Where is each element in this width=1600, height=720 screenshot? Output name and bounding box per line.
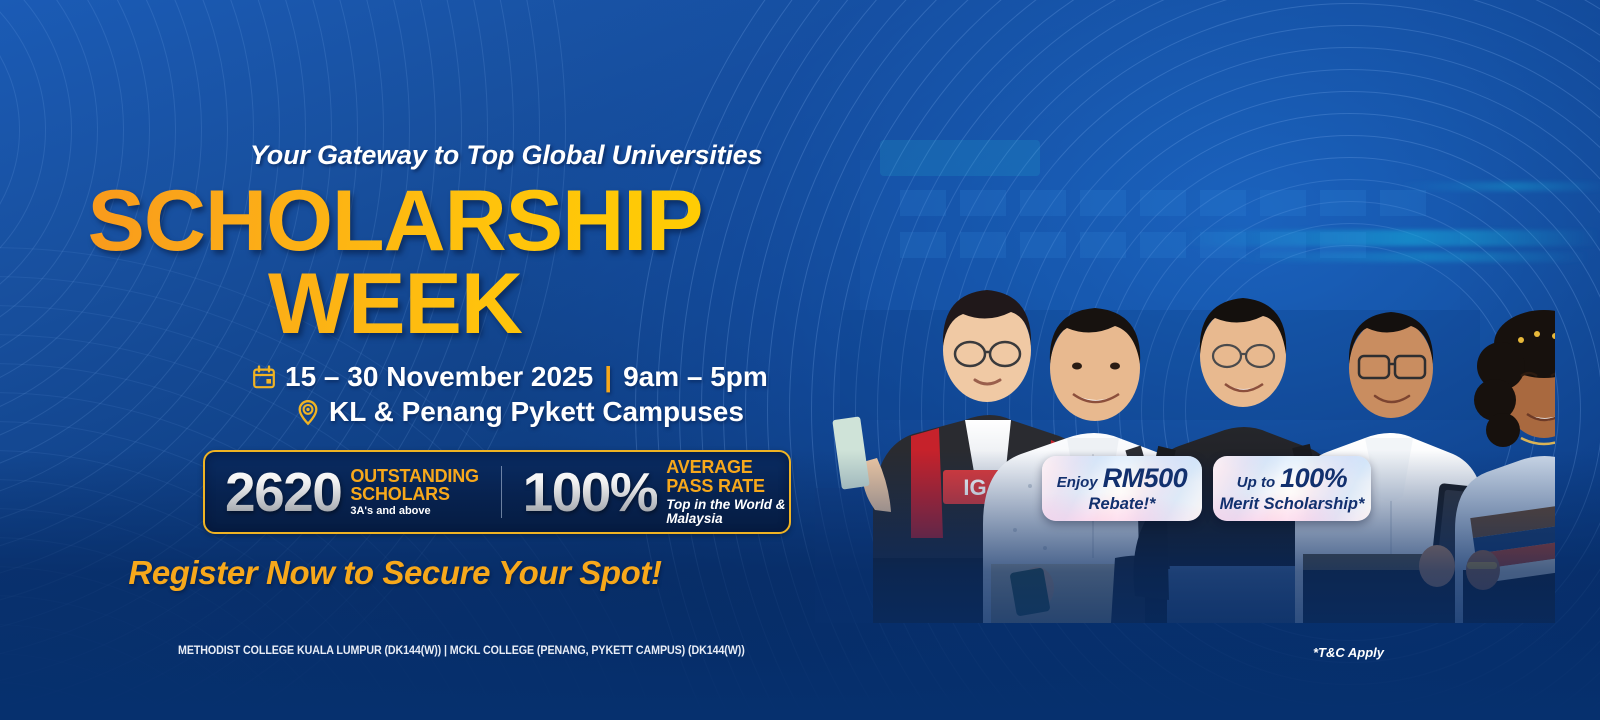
event-date: 15 – 30 November 2025	[285, 361, 593, 393]
stat-pass-rate: 100% AVERAGE PASS RATE Top in the World …	[502, 458, 789, 526]
tagline: Your Gateway to Top Global Universities	[250, 140, 762, 171]
calendar-icon	[252, 365, 276, 390]
headline-line-2: WEEK	[0, 265, 790, 344]
stat-pass-rate-label: AVERAGE PASS RATE	[666, 458, 789, 495]
stat-scholars-label-2: SCHOLARS	[350, 485, 478, 504]
footer-legal-text: METHODIST COLLEGE KUALA LUMPUR (DK144(W)…	[178, 645, 745, 657]
headline-line-1: SCHOLARSHIP	[0, 182, 790, 261]
student-5	[1455, 310, 1555, 623]
promo-badge-rebate-line1: Enjoy RM500	[1057, 463, 1187, 494]
svg-text:IG: IG	[963, 475, 986, 500]
scholarship-week-banner: IG	[0, 0, 1600, 720]
promo-badge-rebate-prefix: Enjoy	[1057, 474, 1098, 491]
promo-badge-merit-line1: Up to 100%	[1237, 463, 1347, 494]
terms-conditions-note: *T&C Apply	[1313, 645, 1384, 660]
event-location: KL & Penang Pykett Campuses	[329, 396, 744, 428]
event-datetime: 15 – 30 November 2025 | 9am – 5pm	[252, 361, 768, 393]
stat-scholars-value: 2620	[225, 465, 341, 520]
promo-badge-merit-amount: 100%	[1280, 463, 1347, 494]
promo-badge-rebate: Enjoy RM500 Rebate!*	[1042, 456, 1202, 521]
promo-badge-merit-line2: Merit Scholarship*	[1220, 495, 1365, 514]
location-pin-icon	[296, 399, 320, 426]
stat-pass-rate-text: AVERAGE PASS RATE Top in the World & Mal…	[666, 458, 789, 526]
stat-scholars-sub: 3A's and above	[350, 506, 478, 517]
cta-text[interactable]: Register Now to Secure Your Spot!	[0, 554, 790, 592]
stat-scholars: 2620 OUTSTANDING SCHOLARS 3A's and above	[205, 465, 479, 520]
promo-badge-merit: Up to 100% Merit Scholarship*	[1213, 456, 1371, 521]
page-title: SCHOLARSHIP WEEK	[0, 182, 790, 344]
stat-scholars-label-1: OUTSTANDING	[350, 467, 478, 486]
stat-scholars-text: OUTSTANDING SCHOLARS 3A's and above	[350, 467, 478, 518]
student-group-photo: IG	[815, 118, 1555, 623]
promo-badge-merit-prefix: Up to	[1237, 474, 1275, 491]
event-time: 9am – 5pm	[623, 361, 768, 393]
banner-content: Your Gateway to Top Global Universities …	[0, 0, 820, 720]
stats-box: 2620 OUTSTANDING SCHOLARS 3A's and above…	[203, 450, 791, 534]
datetime-separator: |	[602, 361, 614, 393]
promo-badge-rebate-line2: Rebate!*	[1089, 495, 1156, 514]
stat-pass-rate-sub: Top in the World & Malaysia	[666, 498, 789, 526]
promo-badge-rebate-amount: RM500	[1103, 463, 1188, 494]
event-location-row: KL & Penang Pykett Campuses	[296, 396, 744, 428]
stat-pass-rate-value: 100%	[523, 465, 658, 520]
